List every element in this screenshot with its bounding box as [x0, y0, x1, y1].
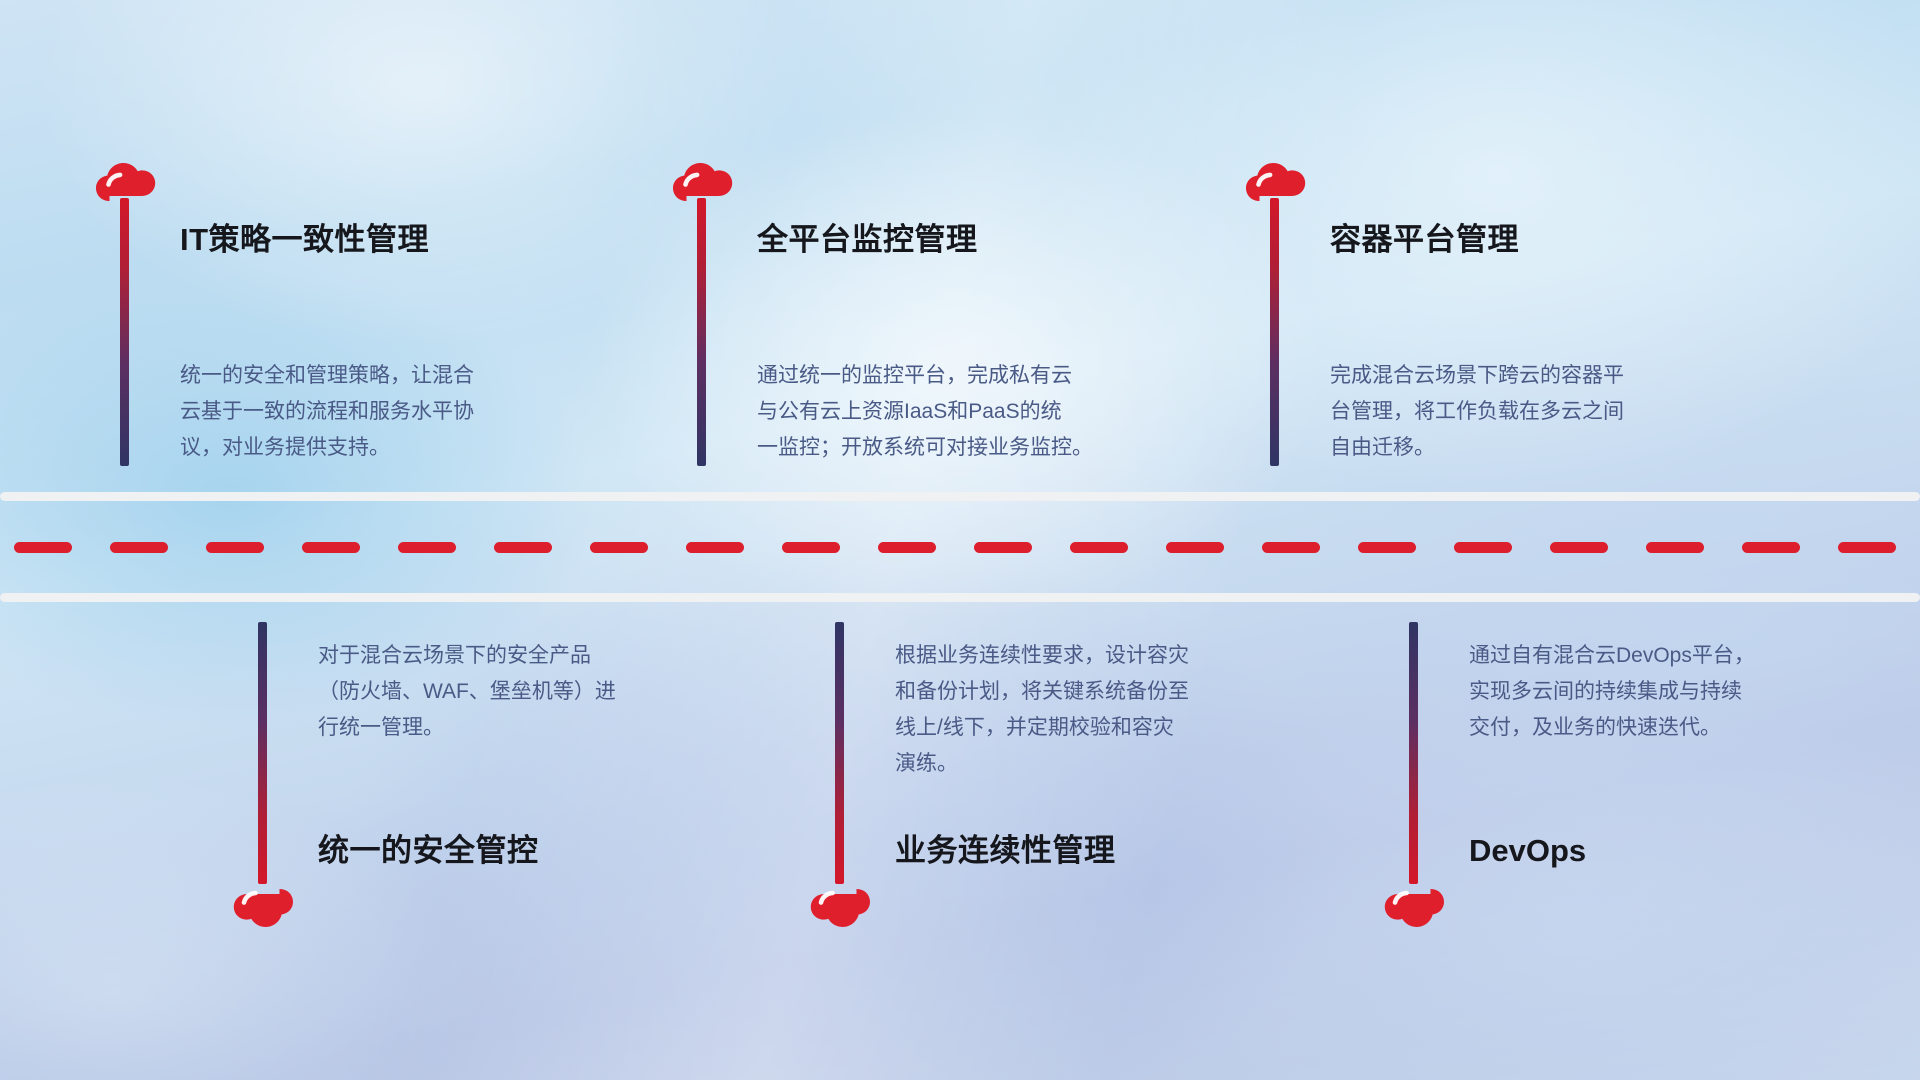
divider-dash: [302, 542, 360, 553]
divider-dash: [590, 542, 648, 553]
body-line: 自由迁移。: [1330, 430, 1760, 466]
divider-dash: [878, 542, 936, 553]
connector-stem: [1270, 198, 1279, 466]
body-line: 通过统一的监控平台，完成私有云: [757, 358, 1197, 394]
divider-dash: [1262, 542, 1320, 553]
divider-dash: [1838, 542, 1896, 553]
divider-rule-top: [0, 492, 1920, 501]
body-line: 根据业务连续性要求，设计容灾: [895, 638, 1325, 674]
divider-dash: [110, 542, 168, 553]
divider-dash: [974, 542, 1032, 553]
card-body: 对于混合云场景下的安全产品 （防火墙、WAF、堡垒机等）进 行统一管理。: [318, 638, 748, 746]
body-line: 演练。: [895, 746, 1325, 782]
connector-stem: [258, 622, 267, 884]
card-title: 全平台监控管理: [757, 221, 978, 258]
body-line: 通过自有混合云DevOps平台，: [1469, 638, 1899, 674]
divider-dash: [1550, 542, 1608, 553]
divider-dash: [14, 542, 72, 553]
body-line: 和备份计划，将关键系统备份至: [895, 674, 1325, 710]
divider-dash: [398, 542, 456, 553]
divider-dash: [782, 542, 840, 553]
body-line: 云基于一致的流程和服务水平协: [180, 394, 610, 430]
body-line: 实现多云间的持续集成与持续: [1469, 674, 1899, 710]
divider-dash: [1646, 542, 1704, 553]
card-body: 通过统一的监控平台，完成私有云 与公有云上资源IaaS和PaaS的统 一监控；开…: [757, 358, 1197, 466]
body-line: 完成混合云场景下跨云的容器平: [1330, 358, 1760, 394]
card-body: 统一的安全和管理策略，让混合 云基于一致的流程和服务水平协 议，对业务提供支持。: [180, 358, 610, 466]
body-line: 交付，及业务的快速迭代。: [1469, 710, 1899, 746]
divider-dash: [1358, 542, 1416, 553]
connector-stem: [697, 198, 706, 466]
connector-stem: [1409, 622, 1418, 884]
card-body: 通过自有混合云DevOps平台， 实现多云间的持续集成与持续 交付，及业务的快速…: [1469, 638, 1899, 746]
body-line: 与公有云上资源IaaS和PaaS的统: [757, 394, 1197, 430]
center-divider: [0, 492, 1920, 602]
body-line: 对于混合云场景下的安全产品: [318, 638, 748, 674]
body-line: 议，对业务提供支持。: [180, 430, 610, 466]
body-line: 统一的安全和管理策略，让混合: [180, 358, 610, 394]
body-line: 台管理，将工作负载在多云之间: [1330, 394, 1760, 430]
divider-dash: [686, 542, 744, 553]
card-title: DevOps: [1469, 832, 1586, 869]
cloud-icon: [809, 884, 871, 930]
divider-dash: [1454, 542, 1512, 553]
card-title: 容器平台管理: [1330, 221, 1519, 258]
body-line: 线上/线下，并定期校验和容灾: [895, 710, 1325, 746]
body-line: （防火墙、WAF、堡垒机等）进: [318, 674, 748, 710]
card-title: IT策略一致性管理: [180, 221, 429, 258]
divider-rule-bottom: [0, 593, 1920, 602]
cloud-icon: [1383, 884, 1445, 930]
divider-dash: [206, 542, 264, 553]
divider-dashed-line: [0, 542, 1920, 553]
divider-dash: [494, 542, 552, 553]
card-body: 完成混合云场景下跨云的容器平 台管理，将工作负载在多云之间 自由迁移。: [1330, 358, 1760, 466]
cloud-icon: [232, 884, 294, 930]
connector-stem: [835, 622, 844, 884]
card-title: 统一的安全管控: [318, 832, 539, 869]
body-line: 一监控；开放系统可对接业务监控。: [757, 430, 1197, 466]
body-line: 行统一管理。: [318, 710, 748, 746]
card-title: 业务连续性管理: [895, 832, 1116, 869]
divider-dash: [1742, 542, 1800, 553]
card-body: 根据业务连续性要求，设计容灾 和备份计划，将关键系统备份至 线上/线下，并定期校…: [895, 638, 1325, 782]
divider-dash: [1070, 542, 1128, 553]
connector-stem: [120, 198, 129, 466]
divider-dash: [1166, 542, 1224, 553]
